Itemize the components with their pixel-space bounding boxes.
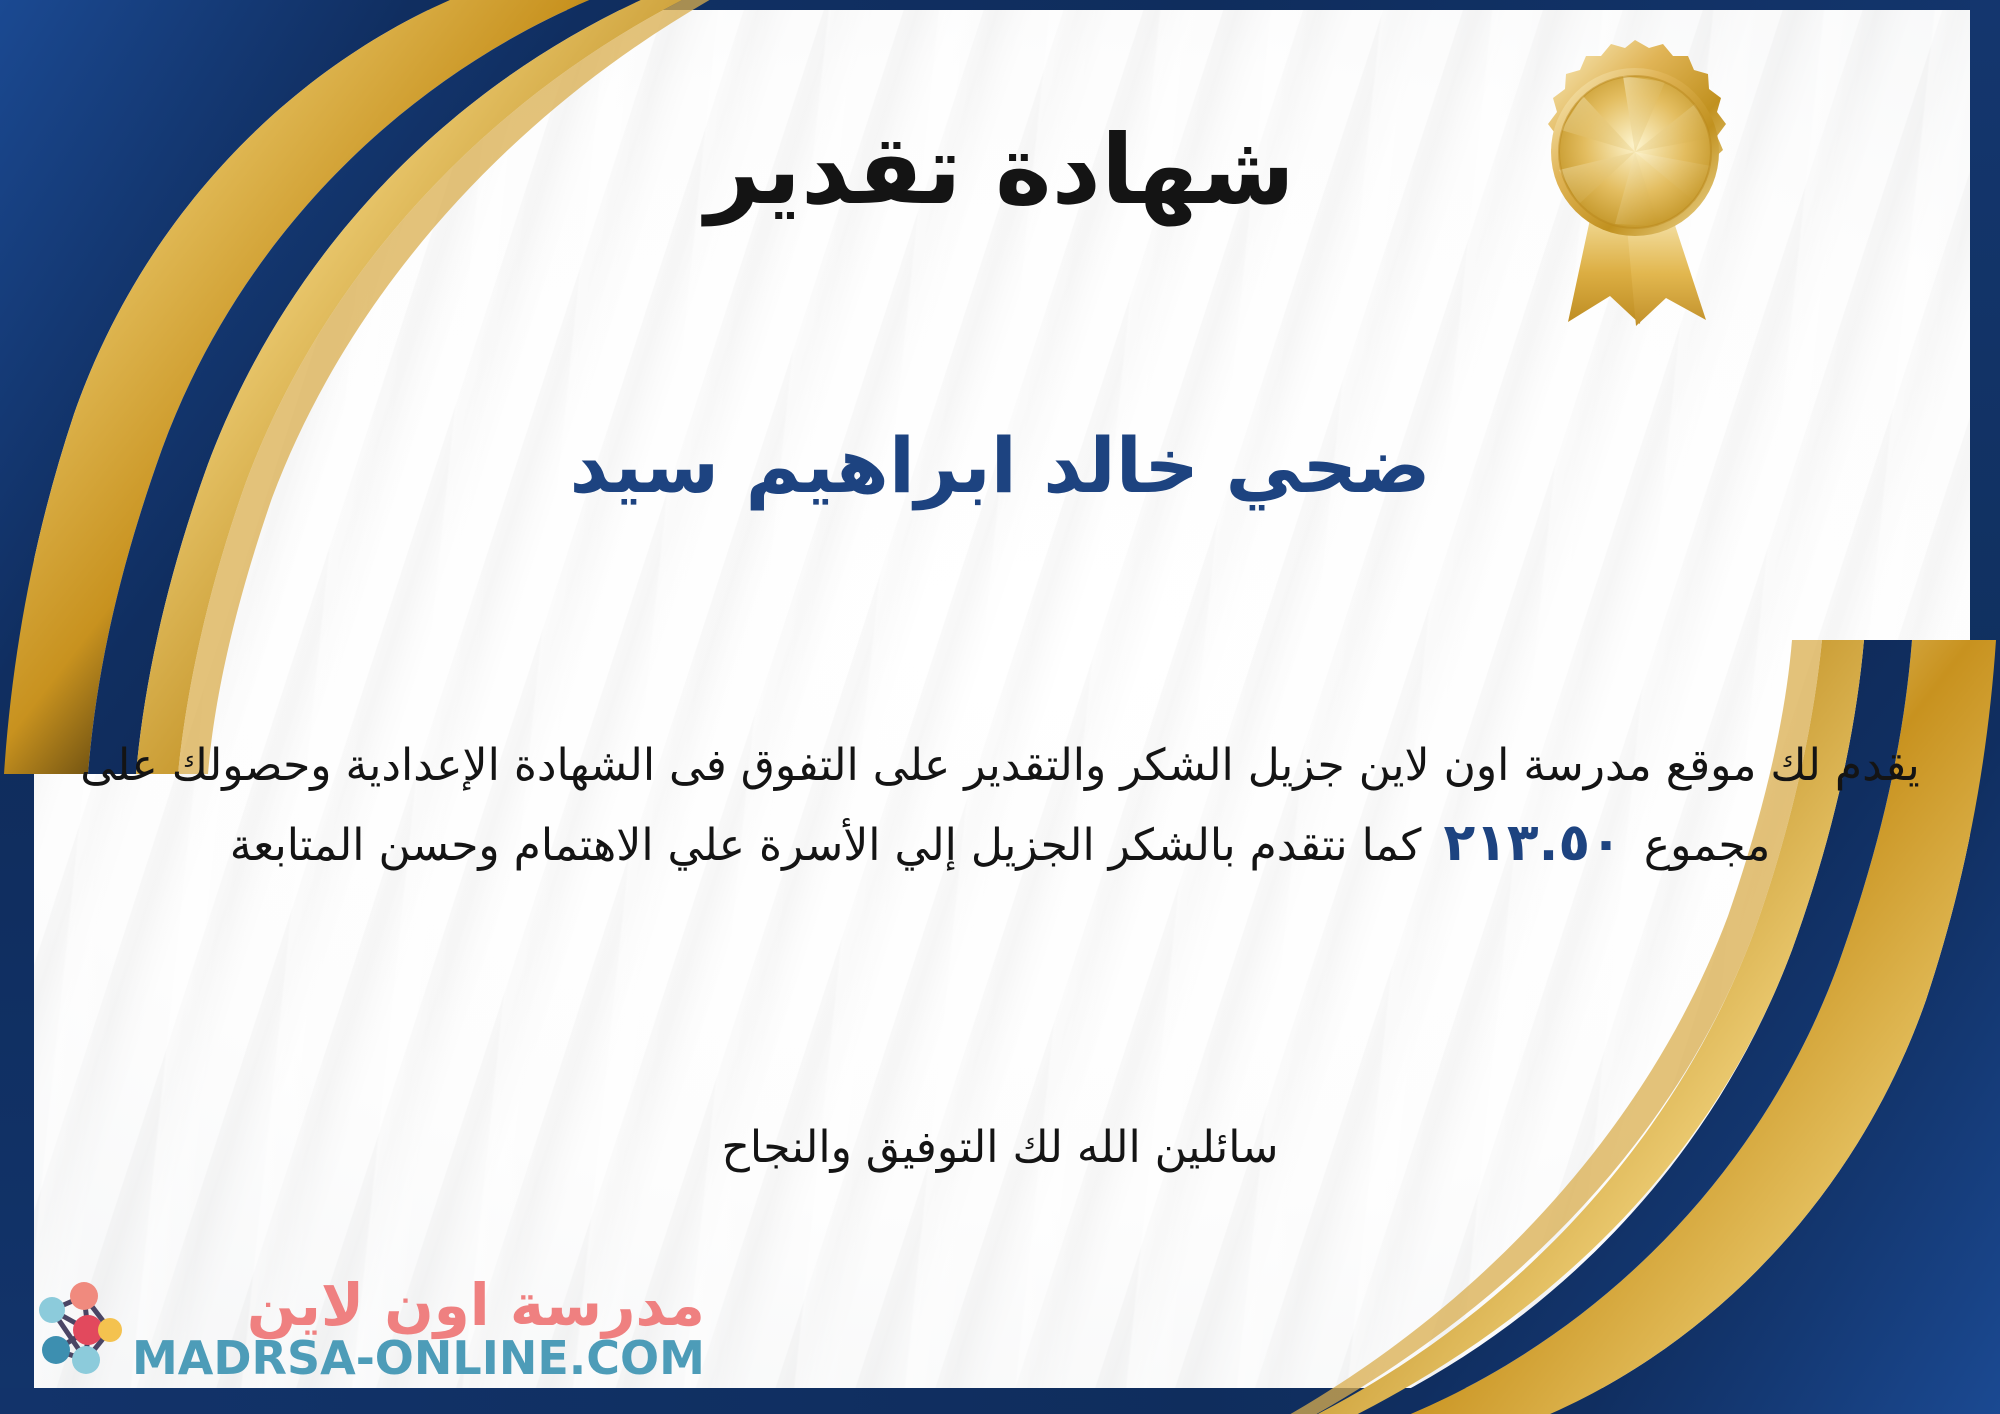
brand-logo[interactable]: مدرسة اون لاين MADRSA-ONLINE.COM	[26, 1274, 705, 1384]
closing-wish-text: سائلين الله لك التوفيق والنجاح	[0, 1115, 2000, 1181]
body-text-part-2: كما نتقدم بالشكر الجزيل إلي الأسرة علي ا…	[230, 820, 1422, 871]
brand-arabic-name: مدرسة اون لاين	[132, 1276, 705, 1334]
frame-edge-bottom	[0, 1388, 2000, 1414]
brand-text: مدرسة اون لاين MADRSA-ONLINE.COM	[132, 1276, 705, 1382]
recipient-name: ضحي خالد ابراهيم سيد	[0, 418, 2000, 513]
network-nodes-icon	[26, 1274, 122, 1384]
frame-edge-top	[0, 0, 2000, 10]
certificate-body-text: يقدم لك موقع مدرسة اون لاين جزيل الشكر و…	[70, 730, 1930, 886]
certificate-page: شهادة تقدير ضحي خالد ابراهيم سيد يقدم لك…	[0, 0, 2000, 1414]
brand-website-url: MADRSA-ONLINE.COM	[132, 1334, 705, 1382]
page-title: شهادة تقدير	[0, 118, 2000, 224]
score-value: ٢١٣.٥٠	[1421, 813, 1643, 873]
